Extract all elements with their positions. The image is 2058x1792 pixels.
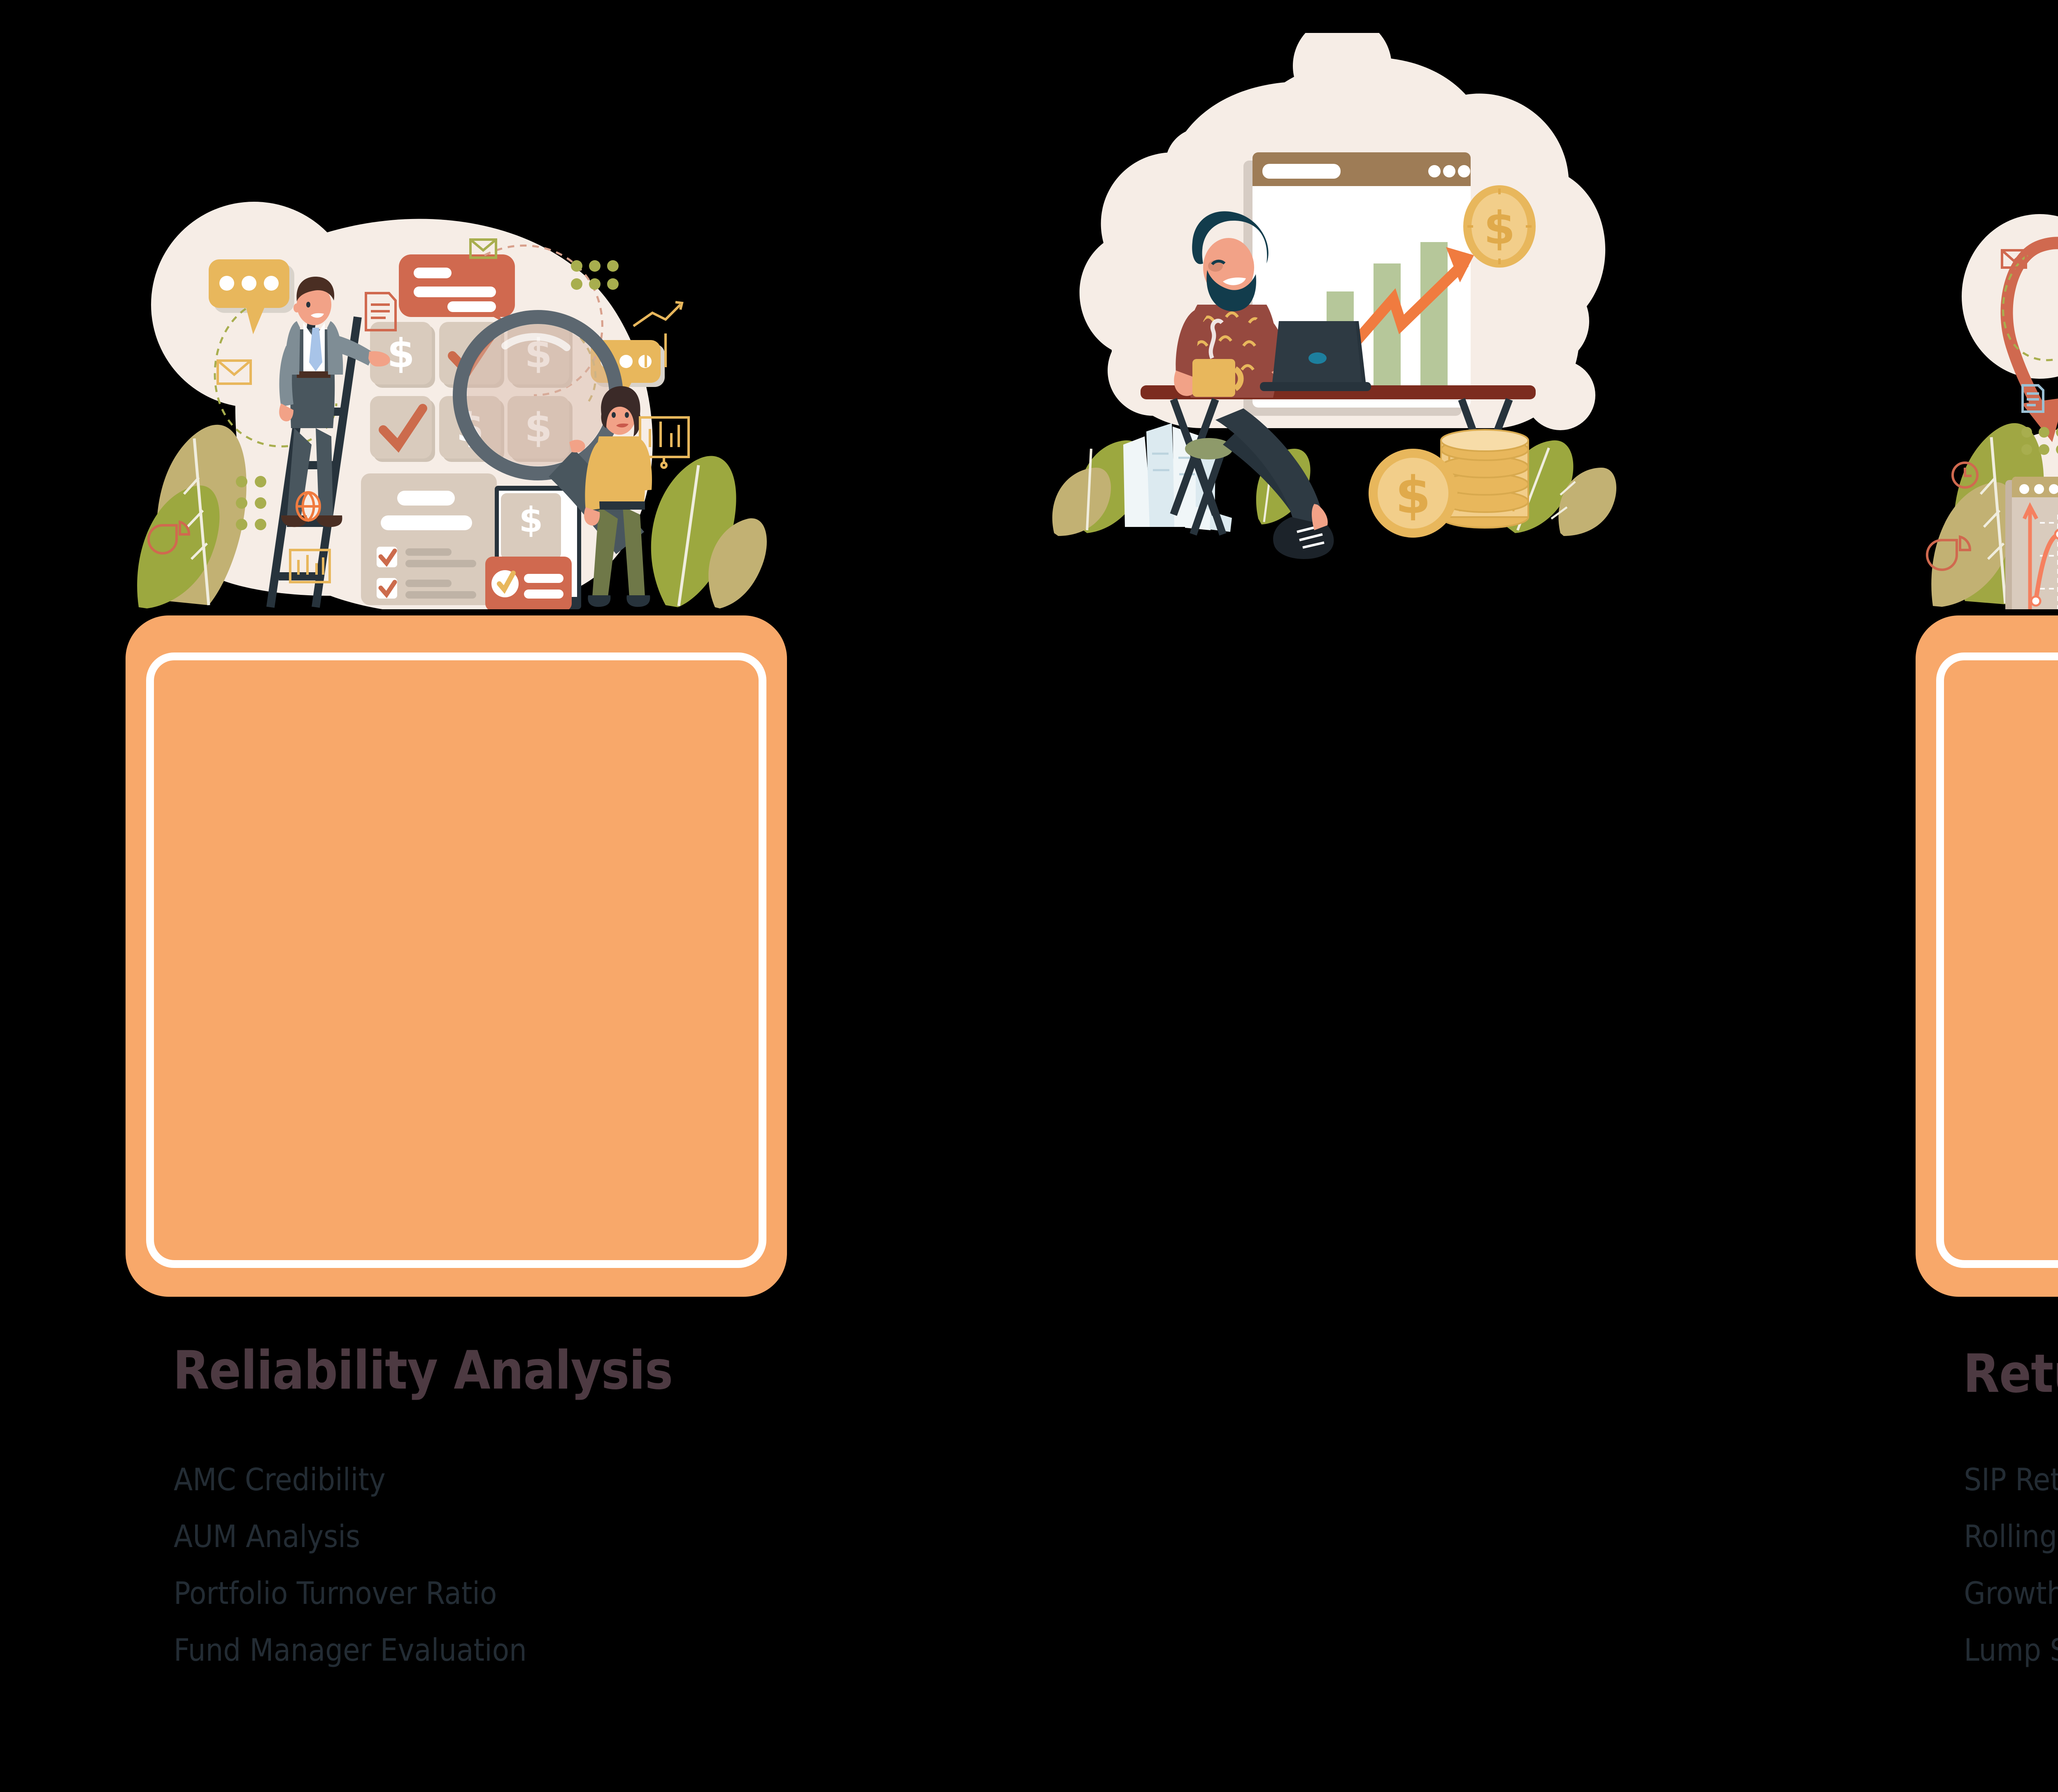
gold-coin: $ [1463,185,1536,268]
leaf-plant [651,456,767,608]
growth-chart-illustration: $ [1029,33,1655,622]
coin-stack: $ [1369,430,1528,538]
list-item: Fund Manager Evaluation [174,1622,527,1678]
card-list-reliability: AMC Credibility AUM Analysis Portfolio T… [174,1451,527,1678]
chat-bubble-terracotta [399,254,515,326]
list-item: SIP Returns [1964,1451,2058,1508]
list-item: Portfolio Turnover Ratio [174,1565,527,1622]
pillar-column-risk: $$$$$ [1790,0,2058,1405]
illustration-risk-wrap: $$$$$ [1790,25,2058,618]
stool-seat [1185,438,1233,459]
pillar-columns: $ $ $ [0,0,2058,1405]
list-item: Lump Sum Investment Analysis [1964,1622,2058,1678]
svg-text:$: $ [1395,466,1431,525]
card-inner-border [146,652,766,1268]
dollar-glyph: $ [387,331,415,377]
list-item: Growth and Asset Comparison [1964,1565,2058,1622]
bar [1420,242,1448,388]
list-item: AMC Credibility [174,1451,527,1508]
pillar-column-reliability: $ $ $ [0,0,895,1405]
card-list-return: SIP Returns Rolling Returns Growth and A… [1964,1451,2058,1678]
illustration-reliability-wrap: $ $ $ [0,25,895,618]
card-title-reliability: Reliability Analysis [173,1340,673,1401]
illustration-return-wrap: $ [895,25,1790,618]
gold-coin: $ [1369,449,1457,538]
card-reliability[interactable]: Reliability Analysis AMC Credibility AUM… [126,615,787,1297]
svg-text:$: $ [519,500,543,540]
line-chart-window [2005,477,2058,609]
list-item: Rolling Returns [1964,1508,2058,1565]
checklist-panel [361,473,497,605]
approved-badge [485,557,572,609]
pillar-column-return: $ [895,0,1790,1405]
risk-calculator-illustration: $$$$$ [1916,173,2058,609]
list-item: AUM Analysis [174,1508,527,1565]
audit-checklist-illustration: $ $ $ [122,181,773,609]
svg-text:$: $ [1484,202,1516,254]
